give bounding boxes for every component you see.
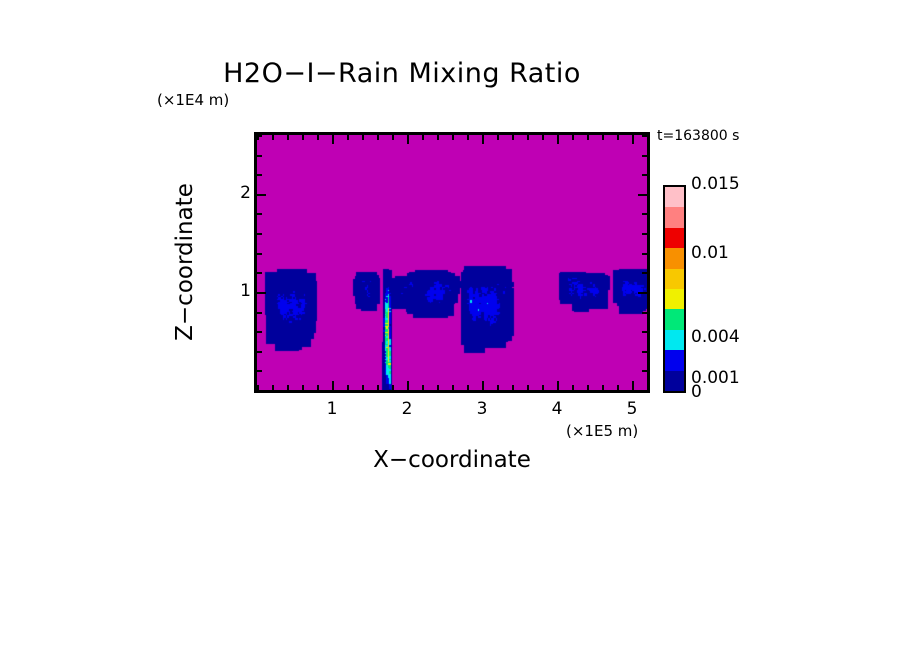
- x-tick-top: [632, 135, 634, 144]
- x-tick: [632, 381, 634, 390]
- y-axis-title: Z−coordinate: [172, 183, 198, 341]
- y-tick-label: 1: [211, 281, 251, 301]
- x-tick: [332, 381, 334, 390]
- x-tick-top: [497, 135, 499, 140]
- colorbar-band: [665, 289, 684, 309]
- y-tick-right: [642, 233, 647, 235]
- y-tick: [257, 331, 262, 333]
- colorbar-band: [665, 330, 684, 350]
- x-tick-label: 5: [612, 399, 652, 419]
- y-tick-right: [642, 312, 647, 314]
- figure-canvas: H2O−I−Rain Mixing Ratio (×1E4 m) t=16380…: [0, 0, 904, 654]
- y-tick: [257, 194, 266, 196]
- x-tick-top: [407, 135, 409, 144]
- x-tick: [542, 385, 544, 390]
- y-tick-right: [642, 272, 647, 274]
- x-tick: [527, 385, 529, 390]
- x-axis-title: X−coordinate: [254, 447, 650, 473]
- y-tick: [257, 233, 262, 235]
- x-tick: [317, 385, 319, 390]
- x-tick-top: [557, 135, 559, 144]
- y-tick: [257, 292, 266, 294]
- y-tick: [257, 272, 262, 274]
- x-tick: [467, 385, 469, 390]
- y-tick-right: [642, 351, 647, 353]
- x-tick-top: [617, 135, 619, 140]
- x-tick: [482, 381, 484, 390]
- x-tick: [437, 385, 439, 390]
- x-axis-unit-label: (×1E5 m): [566, 422, 638, 440]
- y-tick-label: 2: [211, 183, 251, 203]
- x-tick-top: [587, 135, 589, 140]
- x-tick-top: [467, 135, 469, 140]
- colorbar-band: [665, 371, 684, 391]
- y-tick: [257, 213, 262, 215]
- x-tick-top: [437, 135, 439, 140]
- x-tick: [602, 385, 604, 390]
- x-tick-top: [572, 135, 574, 140]
- y-tick-right: [642, 331, 647, 333]
- y-axis-unit-label: (×1E4 m): [157, 91, 229, 109]
- x-tick-top: [302, 135, 304, 140]
- x-tick-top: [527, 135, 529, 140]
- y-tick-right: [642, 174, 647, 176]
- colorbar-band: [665, 228, 684, 248]
- colorbar-band: [665, 309, 684, 329]
- x-tick: [272, 385, 274, 390]
- x-tick: [347, 385, 349, 390]
- x-tick-top: [647, 135, 649, 140]
- x-tick-top: [452, 135, 454, 140]
- y-tick-right: [638, 194, 647, 196]
- x-tick-label: 4: [537, 399, 577, 419]
- x-tick-top: [332, 135, 334, 144]
- x-tick: [377, 385, 379, 390]
- x-tick-top: [542, 135, 544, 140]
- colorbar-tick-label: 0.015: [691, 174, 740, 194]
- x-tick: [572, 385, 574, 390]
- y-tick-right: [642, 213, 647, 215]
- colorbar-band: [665, 187, 684, 207]
- x-tick: [392, 385, 394, 390]
- colorbar-tick-label: 0.001: [691, 368, 740, 388]
- y-tick: [257, 312, 262, 314]
- colorbar: [663, 185, 686, 393]
- colorbar-tick-label: 0.01: [691, 243, 729, 263]
- x-tick: [452, 385, 454, 390]
- y-tick: [257, 174, 262, 176]
- y-tick: [257, 155, 262, 157]
- x-tick-top: [392, 135, 394, 140]
- colorbar-band: [665, 269, 684, 289]
- x-tick-top: [362, 135, 364, 140]
- y-tick: [257, 390, 262, 392]
- x-tick-label: 3: [462, 399, 502, 419]
- x-tick-top: [602, 135, 604, 140]
- y-tick-right: [642, 253, 647, 255]
- x-tick-label: 1: [312, 399, 352, 419]
- x-tick-top: [287, 135, 289, 140]
- x-tick: [302, 385, 304, 390]
- x-tick: [617, 385, 619, 390]
- x-tick: [557, 381, 559, 390]
- x-tick-top: [347, 135, 349, 140]
- x-tick-top: [272, 135, 274, 140]
- x-tick: [287, 385, 289, 390]
- colorbar-band: [665, 350, 684, 370]
- y-tick-right: [642, 135, 647, 137]
- plot-area: [254, 132, 650, 393]
- y-tick: [257, 135, 262, 137]
- x-tick-top: [512, 135, 514, 140]
- y-tick-right: [638, 292, 647, 294]
- x-tick-top: [422, 135, 424, 140]
- heatmap-canvas: [257, 135, 647, 390]
- x-tick: [497, 385, 499, 390]
- colorbar-tick-label: 0.004: [691, 327, 740, 347]
- x-tick: [362, 385, 364, 390]
- x-tick-top: [377, 135, 379, 140]
- timestamp-annotation: t=163800 s: [657, 128, 739, 144]
- y-tick: [257, 253, 262, 255]
- x-tick-label: 2: [387, 399, 427, 419]
- x-tick: [647, 385, 649, 390]
- y-tick-right: [642, 370, 647, 372]
- y-tick: [257, 351, 262, 353]
- x-tick: [422, 385, 424, 390]
- x-tick-top: [317, 135, 319, 140]
- colorbar-band: [665, 248, 684, 268]
- y-tick: [257, 370, 262, 372]
- x-tick: [587, 385, 589, 390]
- x-tick: [512, 385, 514, 390]
- y-tick-right: [642, 155, 647, 157]
- y-tick-right: [642, 390, 647, 392]
- x-tick-top: [482, 135, 484, 144]
- colorbar-band: [665, 207, 684, 227]
- x-tick: [407, 381, 409, 390]
- page-title: H2O−I−Rain Mixing Ratio: [0, 58, 854, 89]
